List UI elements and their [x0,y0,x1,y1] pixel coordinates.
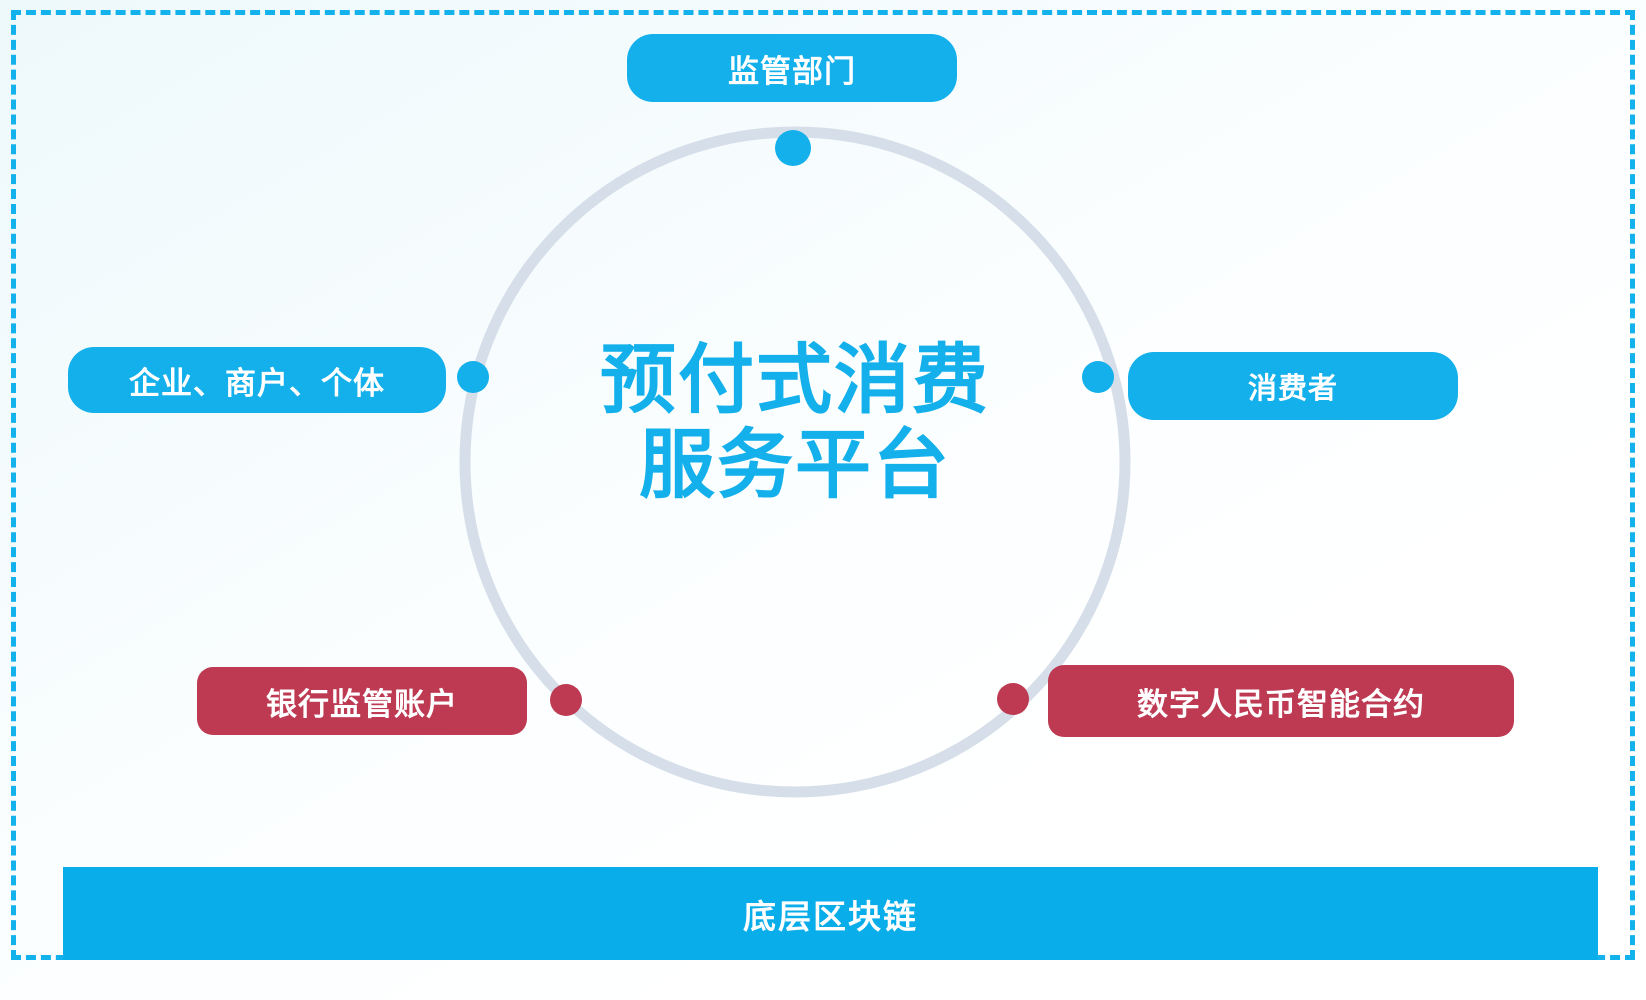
center-title-line-1: 预付式消费 [545,338,1045,423]
center-platform-title: 预付式消费 服务平台 [545,338,1045,508]
node-box-consumers[interactable]: 消费者 [1128,352,1458,420]
node-label-bank-account: 银行监管账户 [266,679,458,724]
connector-dot-bottom-left [550,684,582,716]
foundation-bar-label: 底层区块链 [743,890,918,938]
node-box-digital-rmb-smart-contract[interactable]: 数字人民币智能合约 [1048,665,1514,737]
center-title-line-2: 服务平台 [545,423,1045,508]
connector-dot-top [775,130,811,166]
connector-dot-left [457,361,489,393]
node-box-regulator[interactable]: 监管部门 [627,34,957,102]
node-label-consumers: 消费者 [1248,365,1338,407]
node-box-enterprises-merchants-individuals[interactable]: 企业、商户、个体 [68,347,446,413]
foundation-bar-blockchain[interactable]: 底层区块链 [63,867,1598,960]
node-label-regulator: 监管部门 [728,46,856,91]
node-box-bank-supervision-account[interactable]: 银行监管账户 [197,667,527,735]
node-label-enterprises: 企业、商户、个体 [129,358,385,403]
diagram-canvas: 预付式消费 服务平台 监管部门 企业、商户、个体 消费者 银行监管账户 数字人民… [0,0,1646,1000]
connector-dot-bottom-right [997,683,1029,715]
node-label-smart-contract: 数字人民币智能合约 [1137,679,1425,724]
connector-dot-right [1082,361,1114,393]
